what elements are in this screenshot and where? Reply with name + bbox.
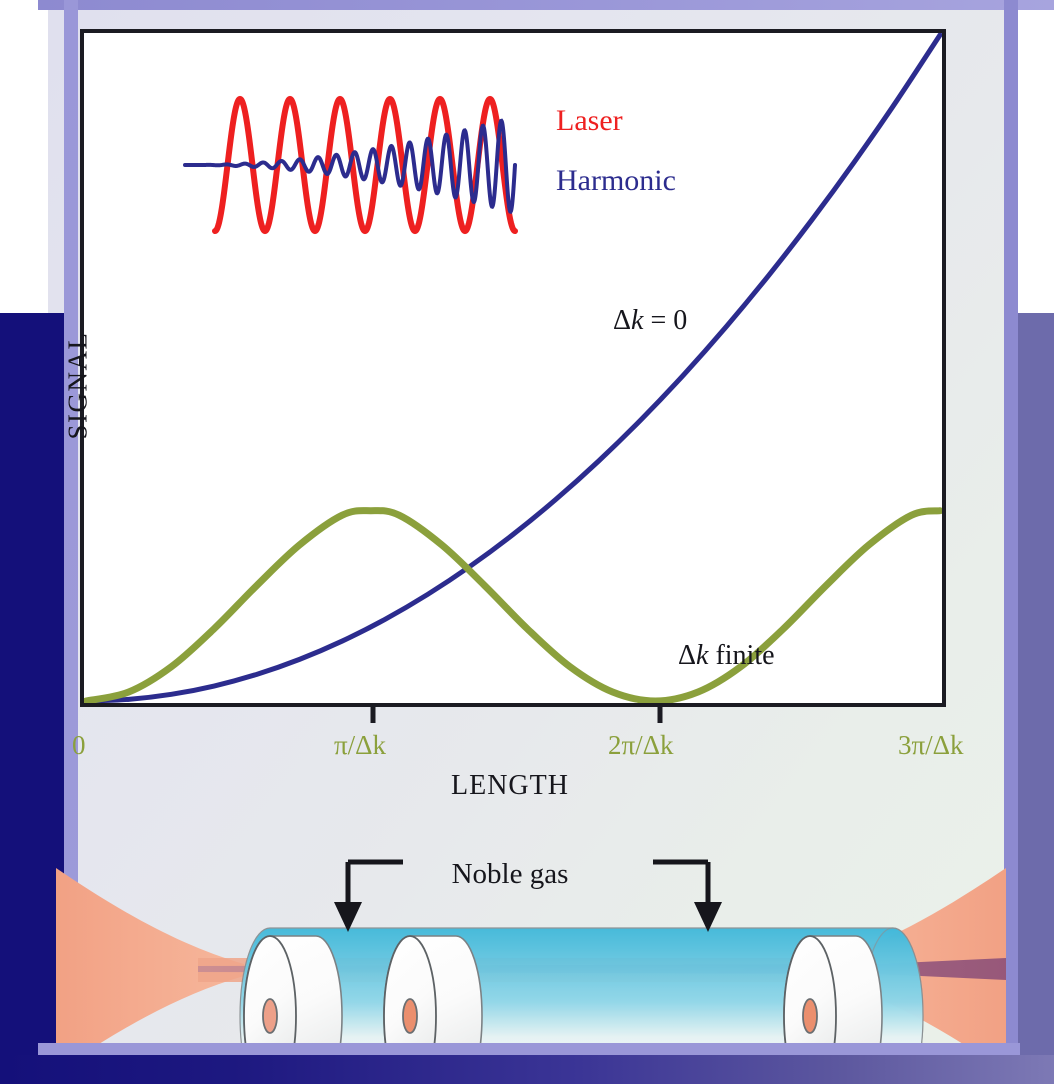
k-symbol: k [696, 640, 708, 671]
frame-bar-bottom-lavender [38, 1043, 1020, 1055]
delta-symbol: Δ [678, 640, 696, 671]
annotation-finite-mismatch: Δk finite [678, 640, 775, 672]
aperture-disk-1 [244, 936, 342, 1043]
aperture-disk-2 [384, 936, 482, 1043]
legend-label-harmonic: Harmonic [556, 164, 676, 198]
annotation-finite-mismatch-rest: finite [708, 640, 774, 671]
aperture-disk-3 [784, 936, 882, 1043]
annotation-phase-matched: Δk = 0 [613, 305, 687, 337]
x-axis-ticks [80, 703, 950, 729]
xtick-label-pi: π/Δk [334, 730, 386, 761]
xtick-label-2pi: 2π/Δk [608, 730, 674, 761]
aperture-hole-3 [803, 999, 817, 1033]
delta-symbol: Δ [613, 305, 631, 336]
xtick-label-3pi: 3π/Δk [898, 730, 964, 761]
legend-label-laser: Laser [556, 104, 623, 138]
inset-waveform-group [175, 85, 555, 245]
x-axis-label: LENGTH [0, 770, 1020, 802]
noble-gas-label: Noble gas [0, 858, 1020, 891]
frame-bar-top [38, 0, 1054, 10]
laser-beam-left [56, 868, 244, 1043]
frame-bar-right-slate [1018, 313, 1054, 1055]
figure-root: Laser Harmonic Δk = 0 Δk finite 0 π/Δk 2… [0, 0, 1054, 1084]
xtick-label-0: 0 [72, 730, 86, 761]
curve-finite-mismatch [86, 511, 940, 701]
y-axis-label: SIGNAL [63, 286, 94, 486]
frame-bar-bottom [0, 1055, 1054, 1084]
aperture-hole-1 [263, 999, 277, 1033]
aperture-hole-2 [403, 999, 417, 1033]
k-symbol: k [631, 305, 643, 336]
annotation-phase-matched-rest: = 0 [643, 305, 687, 336]
